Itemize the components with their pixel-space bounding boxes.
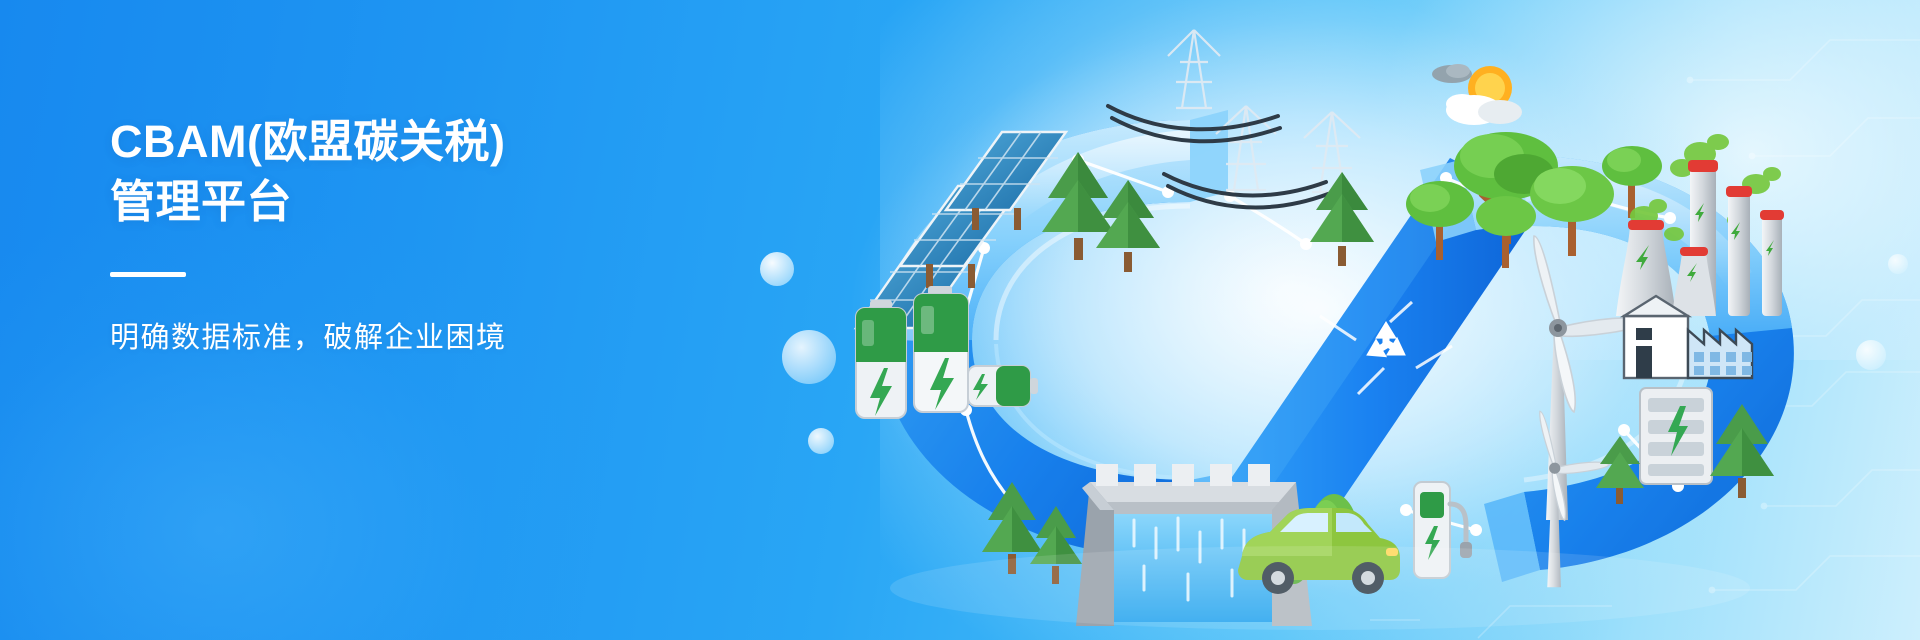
- banner-copy-block: CBAM(欧盟碳关税)管理平台 明确数据标准，破解企业困境: [110, 112, 870, 388]
- title-divider: [110, 272, 186, 277]
- carbon-neutral-illustration: [760, 10, 1920, 630]
- page-title: CBAM(欧盟碳关税)管理平台: [110, 112, 870, 232]
- storage-rack-icon: [1640, 388, 1712, 484]
- page-title-line-2: 管理平台: [110, 172, 870, 232]
- page-title-line-1: CBAM(欧盟碳关税): [110, 116, 505, 167]
- banner-subtitle: 明确数据标准，破解企业困境: [110, 317, 870, 359]
- cbam-hero-banner: CBAM(欧盟碳关税)管理平台 明确数据标准，破解企业困境: [0, 0, 1920, 640]
